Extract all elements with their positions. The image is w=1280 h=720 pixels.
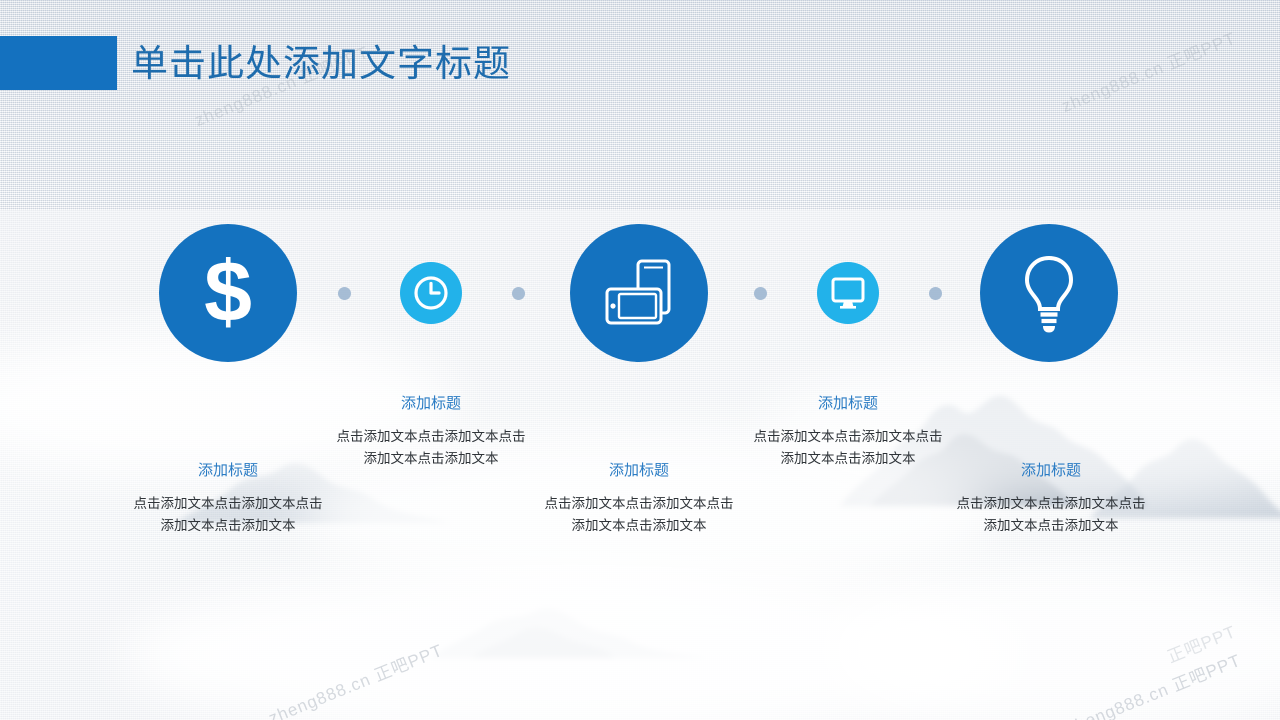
svg-text:$: $ — [204, 253, 252, 333]
block-heading[interactable]: 添加标题 — [953, 462, 1149, 480]
node-circle-clock[interactable] — [400, 262, 462, 324]
bulb-icon — [1018, 252, 1080, 334]
icon-timeline: $ — [0, 0, 1280, 720]
connector-dot — [929, 287, 942, 300]
text-block-2: 添加标题 点击添加文本点击添加文本点击添加文本点击添加文本 — [333, 395, 529, 470]
presentation-slide: 单击此处添加文字标题 $ — [0, 0, 1280, 720]
monitor-icon — [829, 276, 867, 310]
connector-dot — [754, 287, 767, 300]
connector-dot — [512, 287, 525, 300]
node-circle-dollar[interactable]: $ — [159, 224, 297, 362]
block-heading[interactable]: 添加标题 — [130, 462, 326, 480]
devices-icon — [600, 255, 678, 331]
block-heading[interactable]: 添加标题 — [750, 395, 946, 413]
text-block-5: 添加标题 点击添加文本点击添加文本点击添加文本点击添加文本 — [953, 462, 1149, 537]
connector-dot — [338, 287, 351, 300]
block-body[interactable]: 点击添加文本点击添加文本点击添加文本点击添加文本 — [130, 493, 326, 537]
block-body[interactable]: 点击添加文本点击添加文本点击添加文本点击添加文本 — [333, 426, 529, 470]
text-block-4: 添加标题 点击添加文本点击添加文本点击添加文本点击添加文本 — [750, 395, 946, 470]
block-heading[interactable]: 添加标题 — [333, 395, 529, 413]
node-circle-monitor[interactable] — [817, 262, 879, 324]
block-body[interactable]: 点击添加文本点击添加文本点击添加文本点击添加文本 — [750, 426, 946, 470]
node-circle-devices[interactable] — [570, 224, 708, 362]
text-block-1: 添加标题 点击添加文本点击添加文本点击添加文本点击添加文本 — [130, 462, 326, 537]
dollar-icon: $ — [195, 253, 261, 333]
clock-icon — [412, 274, 450, 312]
block-heading[interactable]: 添加标题 — [541, 462, 737, 480]
node-circle-bulb[interactable] — [980, 224, 1118, 362]
block-body[interactable]: 点击添加文本点击添加文本点击添加文本点击添加文本 — [541, 493, 737, 537]
text-block-3: 添加标题 点击添加文本点击添加文本点击添加文本点击添加文本 — [541, 462, 737, 537]
block-body[interactable]: 点击添加文本点击添加文本点击添加文本点击添加文本 — [953, 493, 1149, 537]
